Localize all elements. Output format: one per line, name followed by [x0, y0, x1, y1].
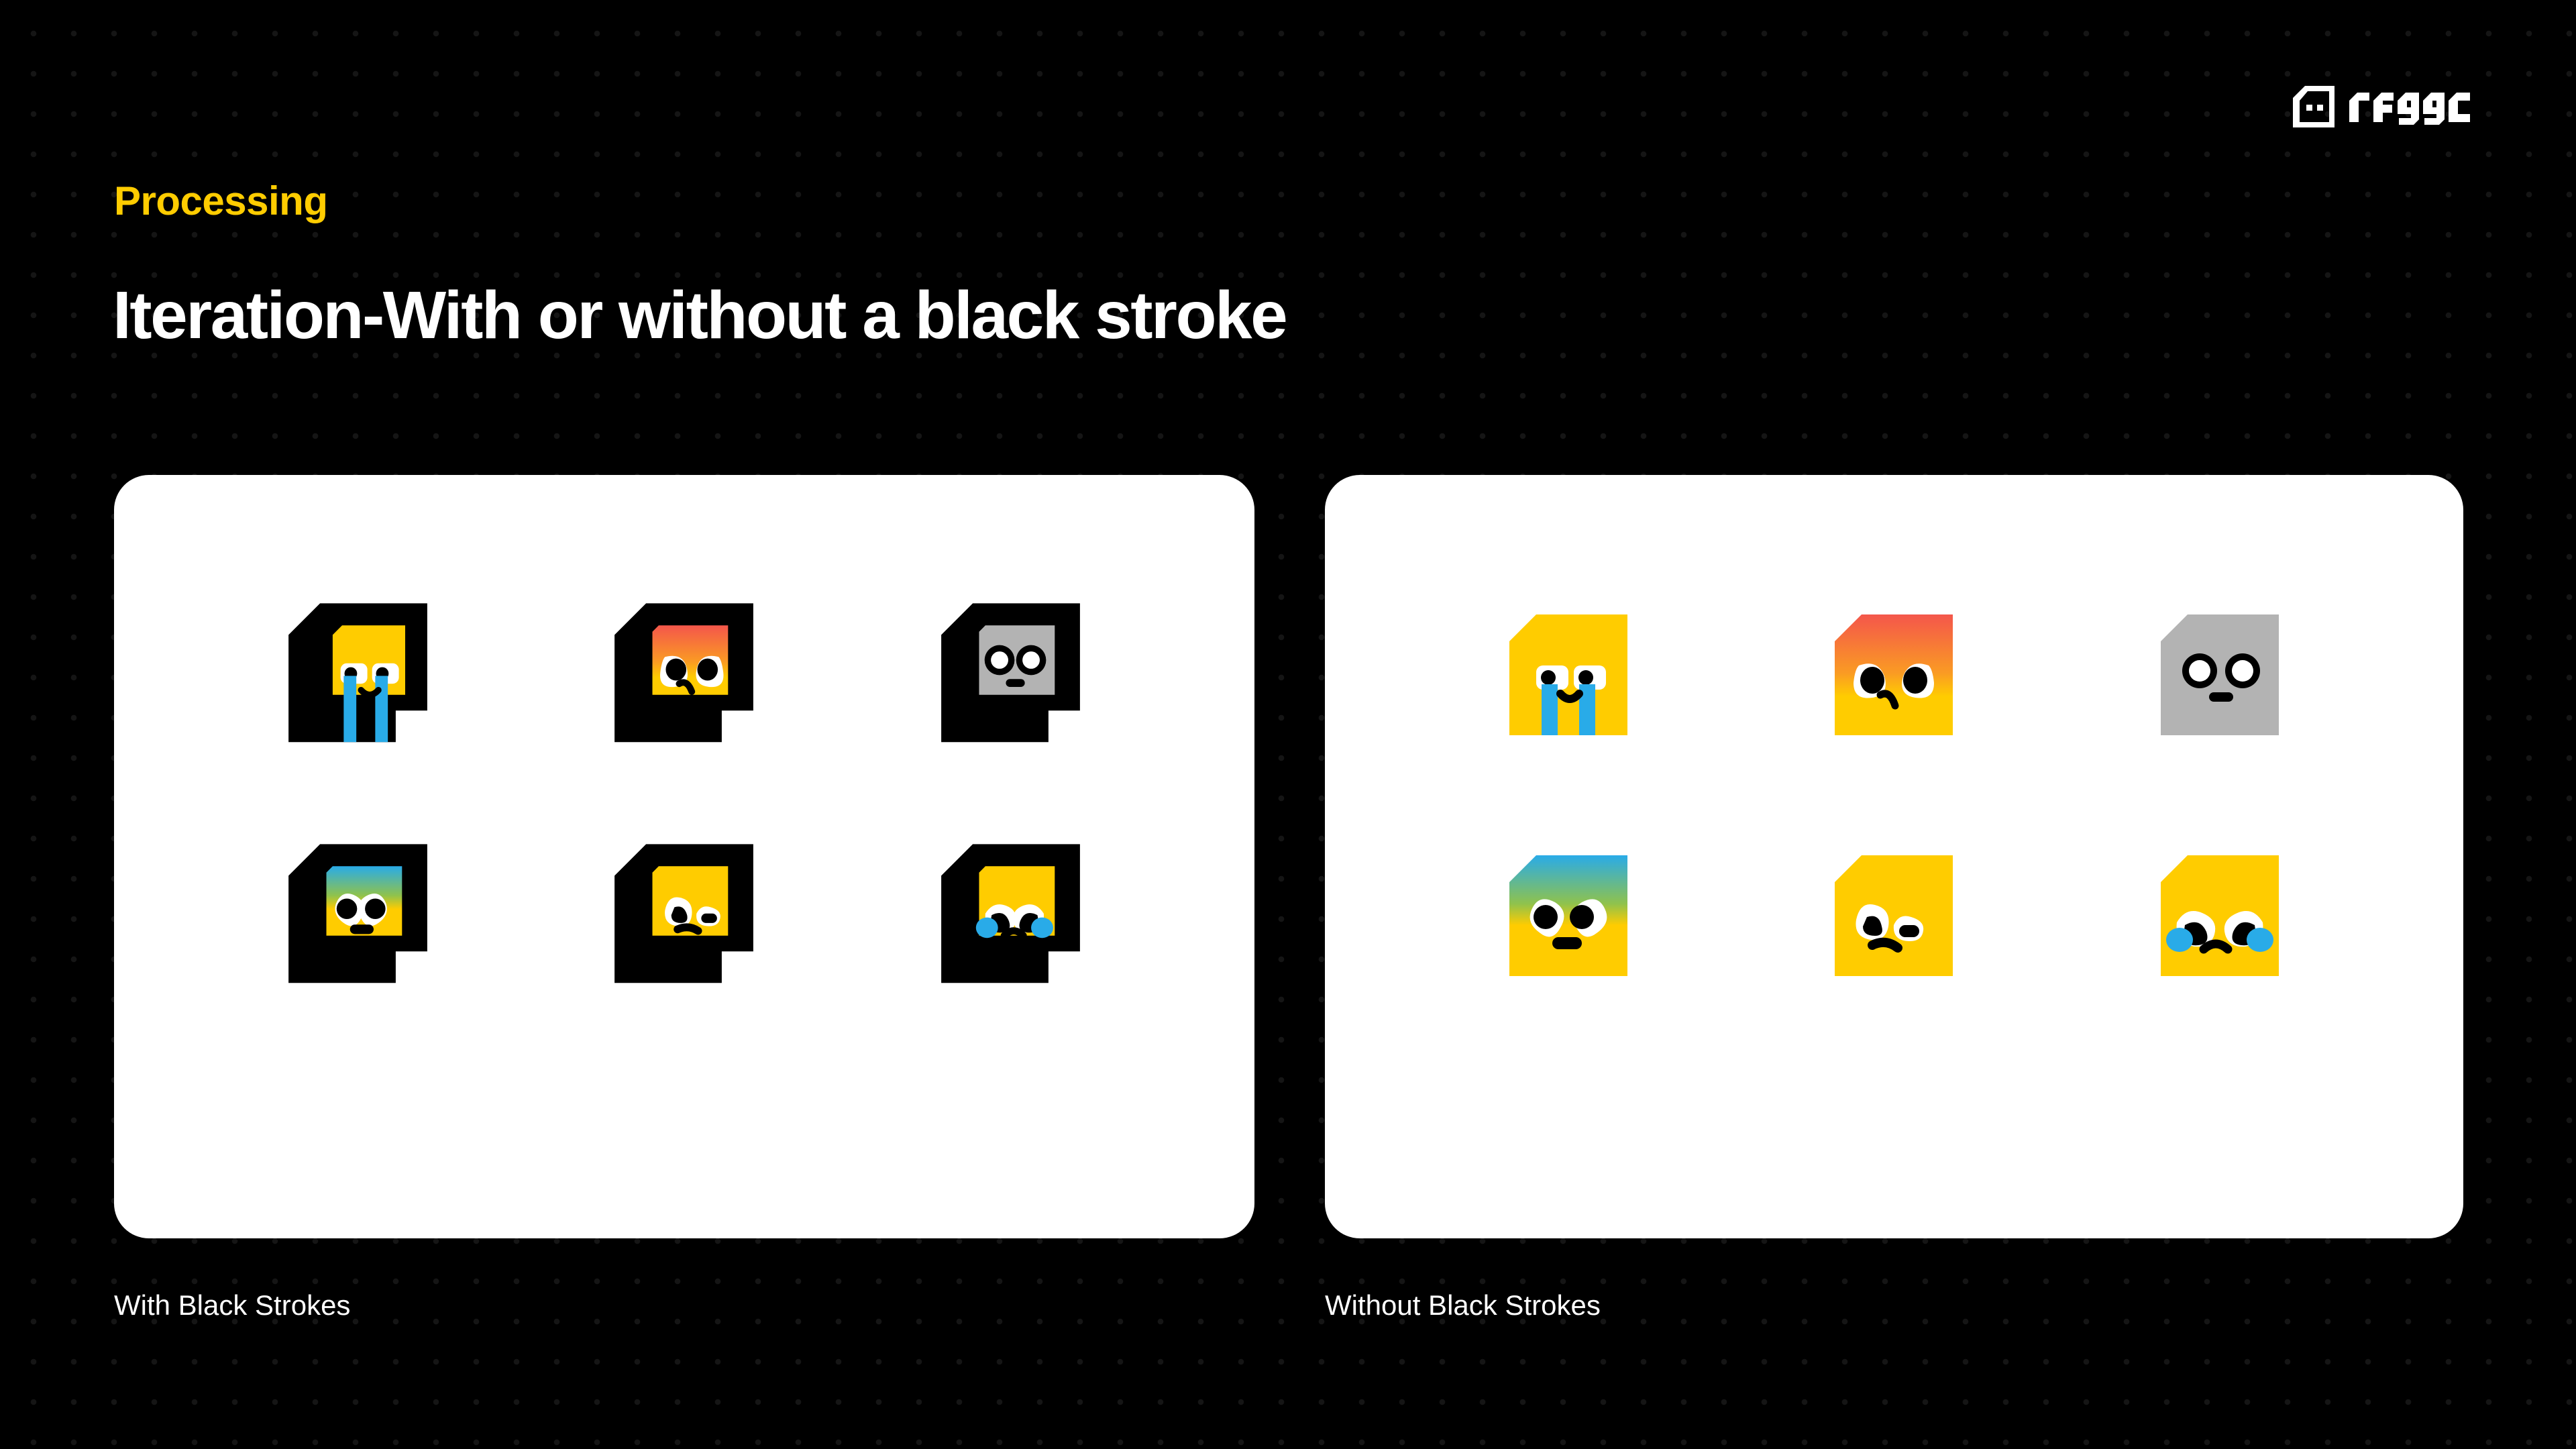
face-cell[interactable]	[932, 838, 1089, 996]
sobbing-yellow-face-with-stroke	[932, 838, 1089, 996]
card-without-black-strokes	[1325, 475, 2463, 1238]
face-cell[interactable]	[2153, 609, 2287, 743]
crying-smile-yellow-face-no-stroke	[1501, 609, 1635, 743]
face-cell[interactable]	[279, 838, 437, 996]
blank-blue-gradient-face-with-stroke	[279, 838, 437, 996]
face-grid-with-strokes	[114, 475, 1254, 1238]
face-cell[interactable]	[2153, 850, 2287, 984]
caption-without-black-strokes: Without Black Strokes	[1325, 1291, 1601, 1320]
reggo-mark-icon	[2293, 86, 2334, 127]
section-eyebrow: Processing	[114, 181, 327, 221]
panel-with-black-strokes	[114, 475, 1254, 1238]
blank-blue-gradient-face-no-stroke	[1501, 850, 1635, 984]
face-grid-without-strokes	[1325, 475, 2463, 1238]
page-title: Iteration-With or without a black stroke	[113, 278, 1286, 352]
crying-smile-yellow-face-with-stroke	[279, 597, 437, 755]
surprised-gray-face-with-stroke	[932, 597, 1089, 755]
face-cell[interactable]	[605, 597, 763, 755]
face-cell[interactable]	[1501, 609, 1635, 743]
brand-logo[interactable]	[2293, 86, 2477, 127]
face-cell[interactable]	[1501, 850, 1635, 984]
surprised-gray-face-no-stroke	[2153, 609, 2287, 743]
unamused-yellow-face-no-stroke	[1827, 850, 1961, 984]
reggo-wordmark-icon	[2349, 86, 2477, 127]
sobbing-yellow-face-no-stroke	[2153, 850, 2287, 984]
face-cell[interactable]	[279, 597, 437, 755]
caption-with-black-strokes: With Black Strokes	[114, 1291, 350, 1320]
face-cell[interactable]	[1827, 850, 1961, 984]
face-cell[interactable]	[1827, 609, 1961, 743]
angry-red-gradient-face-with-stroke	[605, 597, 763, 755]
face-cell[interactable]	[605, 838, 763, 996]
unamused-yellow-face-with-stroke	[605, 838, 763, 996]
angry-red-gradient-face-no-stroke	[1827, 609, 1961, 743]
panel-without-black-strokes	[1325, 475, 2463, 1238]
card-with-black-strokes	[114, 475, 1254, 1238]
face-cell[interactable]	[932, 597, 1089, 755]
